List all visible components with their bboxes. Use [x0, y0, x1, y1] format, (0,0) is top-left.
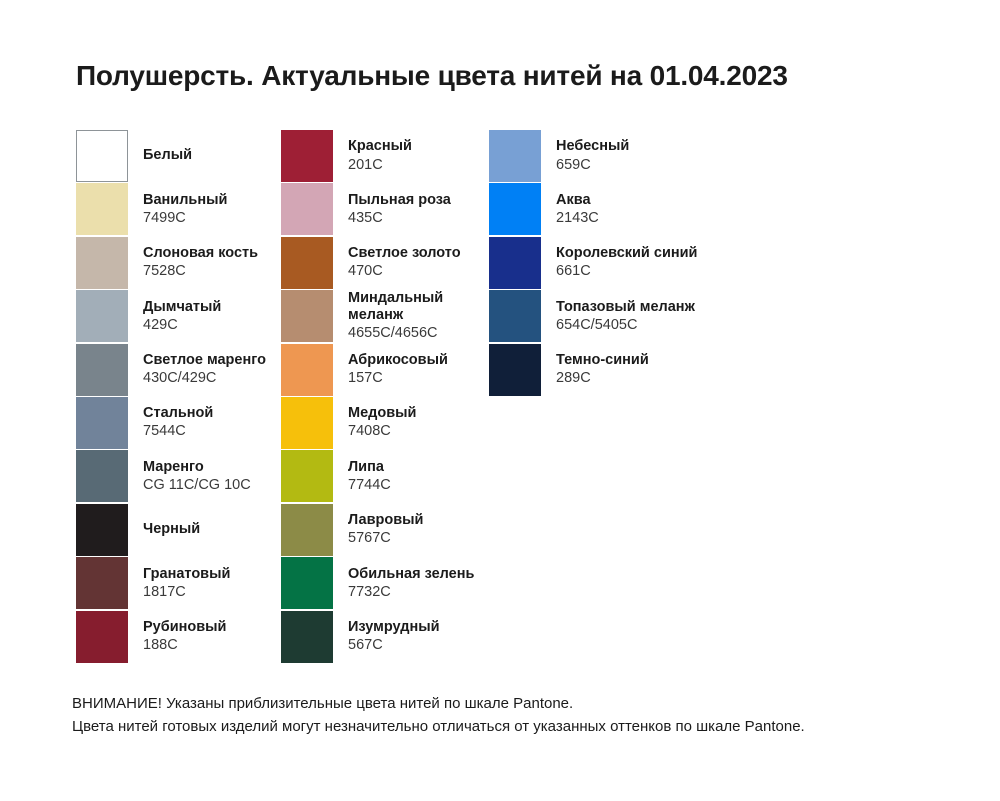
swatch-pantone-code: 429C: [143, 317, 221, 334]
swatch-pantone-code: 654C/5405C: [556, 317, 695, 334]
swatch-row: Лавровый5767C: [281, 504, 486, 557]
swatch-name: Белый: [143, 147, 192, 164]
footer-note: ВНИМАНИЕ! Указаны приблизительные цвета …: [72, 692, 805, 739]
swatch-label-group: Обильная зелень7732C: [348, 557, 474, 609]
swatch-label-group: Медовый7408C: [348, 397, 416, 449]
swatch-label-group: Красный201C: [348, 130, 412, 182]
swatch-label-group: Миндальный меланж4655C/4656C: [348, 290, 486, 342]
swatch-name: Небесный: [556, 138, 629, 155]
swatch-label-group: Аква2143C: [556, 183, 599, 235]
swatch-row: Светлое маренго430C/429C: [76, 344, 276, 397]
swatch-row: Обильная зелень7732C: [281, 557, 486, 610]
swatch-name: Светлое золото: [348, 245, 461, 262]
swatch-label-group: Белый: [143, 130, 192, 182]
color-swatch: [76, 237, 128, 289]
swatch-name: Черный: [143, 521, 200, 538]
swatch-row: Липа7744C: [281, 450, 486, 503]
swatch-label-group: Гранатовый1817C: [143, 557, 230, 609]
swatch-name: Королевский синий: [556, 245, 697, 262]
swatch-pantone-code: 7544C: [143, 423, 213, 440]
palette-column-3: Небесный659CАква2143CКоролевский синий66…: [489, 130, 739, 397]
color-swatch: [281, 290, 333, 342]
swatch-pantone-code: 661C: [556, 263, 697, 280]
color-swatch: [76, 130, 128, 182]
swatch-row: Красный201C: [281, 130, 486, 183]
color-swatch: [281, 450, 333, 502]
swatch-name: Темно-синий: [556, 352, 649, 369]
swatch-name: Рубиновый: [143, 619, 226, 636]
swatch-label-group: Абрикосовый157C: [348, 344, 448, 396]
swatch-row: Аква2143C: [489, 183, 739, 236]
swatch-pantone-code: 289C: [556, 370, 649, 387]
swatch-pantone-code: 430C/429C: [143, 370, 266, 387]
swatch-label-group: Изумрудный567C: [348, 611, 440, 663]
swatch-label-group: Пыльная роза435C: [348, 183, 451, 235]
swatch-label-group: Дымчатый429C: [143, 290, 221, 342]
color-swatch: [489, 183, 541, 235]
swatch-row: Стальной7544C: [76, 397, 276, 450]
swatch-name: Миндальный меланж: [348, 290, 486, 324]
color-swatch: [76, 183, 128, 235]
swatch-pantone-code: 1817C: [143, 584, 230, 601]
swatch-row: Медовый7408C: [281, 397, 486, 450]
swatch-label-group: Липа7744C: [348, 450, 391, 502]
swatch-row: Рубиновый188C: [76, 611, 276, 664]
footer-note-line-2: Цвета нитей готовых изделий могут незнач…: [72, 715, 805, 738]
swatch-pantone-code: 5767C: [348, 530, 423, 547]
swatch-name: Светлое маренго: [143, 352, 266, 369]
color-swatch: [281, 130, 333, 182]
swatch-pantone-code: 188C: [143, 637, 226, 654]
color-swatch: [76, 504, 128, 556]
color-swatch: [281, 237, 333, 289]
swatch-pantone-code: 567C: [348, 637, 440, 654]
swatch-row: МаренгоCG 11C/CG 10C: [76, 450, 276, 503]
swatch-row: Топазовый меланж654C/5405C: [489, 290, 739, 343]
swatch-name: Слоновая кость: [143, 245, 258, 262]
swatch-pantone-code: 7499C: [143, 210, 227, 227]
swatch-label-group: Черный: [143, 504, 200, 556]
swatch-label-group: Слоновая кость7528C: [143, 237, 258, 289]
color-swatch: [281, 183, 333, 235]
swatch-name: Обильная зелень: [348, 566, 474, 583]
swatch-pantone-code: 7744C: [348, 477, 391, 494]
swatch-name: Медовый: [348, 405, 416, 422]
color-swatch: [281, 557, 333, 609]
swatch-pantone-code: 4655C/4656C: [348, 325, 486, 342]
swatch-name: Аква: [556, 192, 599, 209]
swatch-name: Дымчатый: [143, 299, 221, 316]
color-swatch: [489, 344, 541, 396]
swatch-row: Пыльная роза435C: [281, 183, 486, 236]
swatch-name: Стальной: [143, 405, 213, 422]
swatch-pantone-code: 7528C: [143, 263, 258, 280]
color-swatch: [76, 344, 128, 396]
swatch-row: Слоновая кость7528C: [76, 237, 276, 290]
swatch-row: Ванильный7499C: [76, 183, 276, 236]
color-swatch: [76, 611, 128, 663]
swatch-label-group: Небесный659C: [556, 130, 629, 182]
swatch-row: Гранатовый1817C: [76, 557, 276, 610]
swatch-row: Небесный659C: [489, 130, 739, 183]
swatch-name: Пыльная роза: [348, 192, 451, 209]
swatch-row: Миндальный меланж4655C/4656C: [281, 290, 486, 343]
color-swatch: [76, 290, 128, 342]
swatch-pantone-code: 157C: [348, 370, 448, 387]
page-title: Полушерсть. Актуальные цвета нитей на 01…: [76, 60, 788, 92]
swatch-pantone-code: 2143C: [556, 210, 599, 227]
color-chart-page: Полушерсть. Актуальные цвета нитей на 01…: [0, 0, 1000, 801]
swatch-pantone-code: 470C: [348, 263, 461, 280]
swatch-name: Маренго: [143, 459, 251, 476]
color-swatch: [281, 397, 333, 449]
swatch-label-group: Рубиновый188C: [143, 611, 226, 663]
swatch-row: Королевский синий661C: [489, 237, 739, 290]
color-swatch: [489, 130, 541, 182]
palette-column-2: Красный201CПыльная роза435CСветлое золот…: [281, 130, 486, 664]
swatch-label-group: Темно-синий289C: [556, 344, 649, 396]
color-swatch: [489, 237, 541, 289]
swatch-row: Черный: [76, 504, 276, 557]
swatch-label-group: Стальной7544C: [143, 397, 213, 449]
swatch-pantone-code: 201C: [348, 157, 412, 174]
swatch-row: Абрикосовый157C: [281, 344, 486, 397]
swatch-row: Изумрудный567C: [281, 611, 486, 664]
swatch-name: Красный: [348, 138, 412, 155]
swatch-name: Липа: [348, 459, 391, 476]
swatch-row: Темно-синий289C: [489, 344, 739, 397]
swatch-name: Гранатовый: [143, 566, 230, 583]
swatch-pantone-code: 7408C: [348, 423, 416, 440]
swatch-name: Ванильный: [143, 192, 227, 209]
swatch-pantone-code: 7732C: [348, 584, 474, 601]
color-swatch: [281, 611, 333, 663]
color-swatch: [281, 504, 333, 556]
swatch-row: Дымчатый429C: [76, 290, 276, 343]
swatch-label-group: Лавровый5767C: [348, 504, 423, 556]
color-swatch: [489, 290, 541, 342]
footer-note-line-1: ВНИМАНИЕ! Указаны приблизительные цвета …: [72, 692, 805, 715]
color-swatch: [76, 557, 128, 609]
color-swatch: [76, 397, 128, 449]
swatch-row: Светлое золото470C: [281, 237, 486, 290]
swatch-label-group: Королевский синий661C: [556, 237, 697, 289]
swatch-row: Белый: [76, 130, 276, 183]
swatch-label-group: Топазовый меланж654C/5405C: [556, 290, 695, 342]
palette-column-1: БелыйВанильный7499CСлоновая кость7528CДы…: [76, 130, 276, 664]
swatch-label-group: Ванильный7499C: [143, 183, 227, 235]
swatch-name: Изумрудный: [348, 619, 440, 636]
swatch-label-group: Светлое маренго430C/429C: [143, 344, 266, 396]
swatch-label-group: МаренгоCG 11C/CG 10C: [143, 450, 251, 502]
swatch-pantone-code: 659C: [556, 157, 629, 174]
color-swatch: [76, 450, 128, 502]
color-swatch: [281, 344, 333, 396]
swatch-name: Абрикосовый: [348, 352, 448, 369]
swatch-pantone-code: CG 11C/CG 10C: [143, 477, 251, 494]
swatch-pantone-code: 435C: [348, 210, 451, 227]
swatch-name: Лавровый: [348, 512, 423, 529]
swatch-label-group: Светлое золото470C: [348, 237, 461, 289]
swatch-name: Топазовый меланж: [556, 299, 695, 316]
